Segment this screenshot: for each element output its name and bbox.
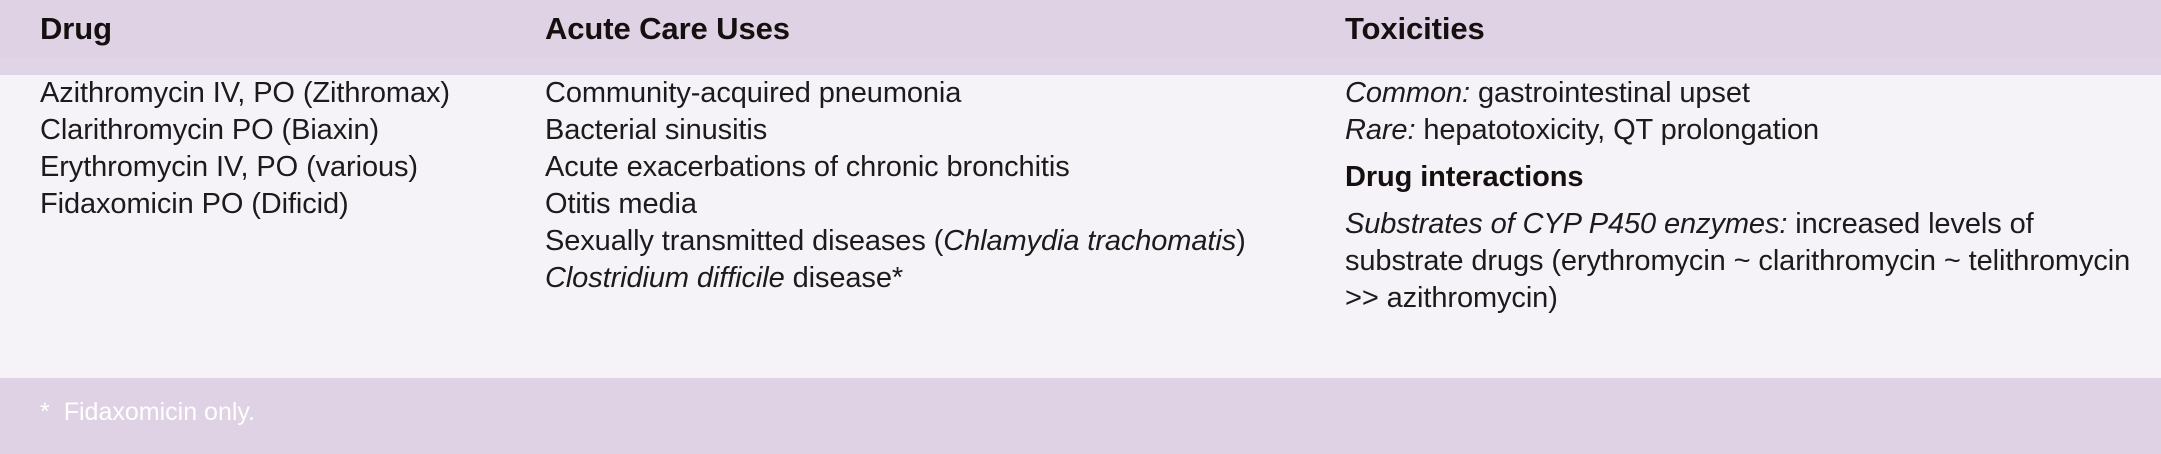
cell-toxicities: Common: gastrointestinal upset Rare: hep… [1345,75,2135,317]
list-item: Otitis media [545,186,1335,223]
list-item: Clarithromycin PO (Biaxin) [40,112,530,149]
list-item: Community-acquired pneumonia [545,75,1335,112]
column-header-toxicities: Toxicities [1345,11,1485,47]
drug-interactions-heading: Drug interactions [1345,159,2135,196]
table-footnote-band: *Fidaxomicin only. [0,378,2161,454]
toxicity-common-label: Common: [1345,77,1470,109]
list-item: Bacterial sinusitis [545,112,1335,149]
cdiff-organism: Clostridium difficile [545,262,785,294]
cell-drug-list: Azithromycin IV, PO (Zithromax) Clarithr… [40,75,530,223]
list-item-std: Sexually transmitted diseases (Chlamydia… [545,223,1335,260]
drug-reference-table: Drug Acute Care Uses Toxicities Azithrom… [0,0,2161,454]
footnote-text: Fidaxomicin only. [64,398,255,426]
toxicity-common-text: gastrointestinal upset [1470,77,1750,109]
std-suffix: ) [1236,225,1246,257]
list-item: Azithromycin IV, PO (Zithromax) [40,75,530,112]
cell-acute-care-uses-list: Community-acquired pneumonia Bacterial s… [545,75,1335,297]
list-item: Fidaxomicin PO (Dificid) [40,186,530,223]
column-header-drug: Drug [40,11,112,47]
table-header-separator [0,58,2161,75]
table-body-band: Azithromycin IV, PO (Zithromax) Clarithr… [0,75,2161,378]
toxicity-common: Common: gastrointestinal upset [1345,75,2135,112]
column-header-acute-care-uses: Acute Care Uses [545,11,790,47]
toxicity-rare: Rare: hepatotoxicity, QT prolongation [1345,112,2135,149]
footnote-marker: * [40,398,50,426]
list-item: Erythromycin IV, PO (various) [40,149,530,186]
toxicity-rare-text: hepatotoxicity, QT prolongation [1415,114,1819,146]
toxicity-rare-label: Rare: [1345,114,1415,146]
drug-interactions-substrates: Substrates of CYP P450 enzymes: increase… [1345,206,2135,317]
list-item-cdiff: Clostridium difficile disease* [545,260,1335,297]
std-prefix: Sexually transmitted diseases ( [545,225,943,257]
substrates-label: Substrates of CYP P450 enzymes: [1345,208,1787,240]
cdiff-suffix: disease* [785,262,903,294]
footnote: *Fidaxomicin only. [40,398,255,427]
list-item: Acute exacerbations of chronic bronchiti… [545,149,1335,186]
table-header-row: Drug Acute Care Uses Toxicities [0,0,2161,58]
std-organism: Chlamydia trachomatis [943,225,1236,257]
